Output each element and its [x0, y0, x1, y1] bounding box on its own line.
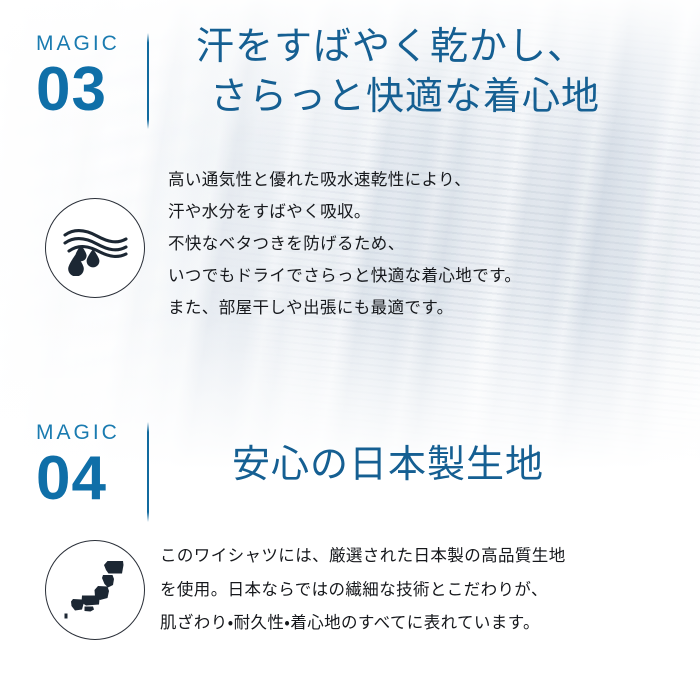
body-line: 汗や水分をすばやく吸収。	[168, 204, 521, 221]
section-magic-03: MAGIC 03 汗をすばやく乾かし、 さらっと快適な着心地	[0, 0, 700, 410]
body-copy-03: 高い通気性と優れた吸水速乾性により、 汗や水分をすばやく吸収。 不快なベタつきを…	[168, 172, 521, 332]
promo-page: MAGIC 03 汗をすばやく乾かし、 さらっと快適な着心地	[0, 0, 700, 700]
body-copy-04: このワイシャツには、厳選された日本製の高品質生地 を使用。日本ならではの繊細な技…	[160, 548, 566, 649]
headline-04: 安心の日本製生地	[232, 440, 544, 490]
magic-badge-04: MAGIC 04	[36, 422, 136, 510]
body-line: 高い通気性と優れた吸水速乾性により、	[168, 172, 521, 189]
body-line: いつでもドライでさらっと快適な着心地です。	[168, 268, 521, 285]
headline-03-line-1: 汗をすばやく乾かし、	[196, 26, 586, 68]
headline-04-line-1: 安心の日本製生地	[232, 444, 544, 486]
divider-04	[147, 422, 149, 522]
dry-airflow-droplets-icon	[45, 198, 145, 298]
magic-number-03: 03	[36, 58, 136, 121]
magic-number-04: 04	[36, 447, 136, 510]
magic-label-04: MAGIC	[36, 422, 136, 443]
headline-03: 汗をすばやく乾かし、 さらっと快適な着心地	[196, 22, 600, 122]
body-line: 肌ざわり・耐久性・着心地のすべてに表れています。	[160, 615, 566, 632]
body-line: このワイシャツには、厳選された日本製の高品質生地	[160, 548, 566, 565]
japan-map-icon	[45, 540, 145, 640]
body-line: を使用。日本ならではの繊細な技術とこだわりが、	[160, 582, 566, 599]
body-line: また、部屋干しや出張にも最適です。	[168, 300, 521, 317]
divider-03	[147, 33, 149, 129]
headline-03-line-2: さらっと快適な着心地	[196, 72, 600, 122]
magic-label-03: MAGIC	[36, 33, 136, 54]
body-line: 不快なベタつきを防げるため、	[168, 236, 521, 253]
magic-badge-03: MAGIC 03	[36, 33, 136, 121]
